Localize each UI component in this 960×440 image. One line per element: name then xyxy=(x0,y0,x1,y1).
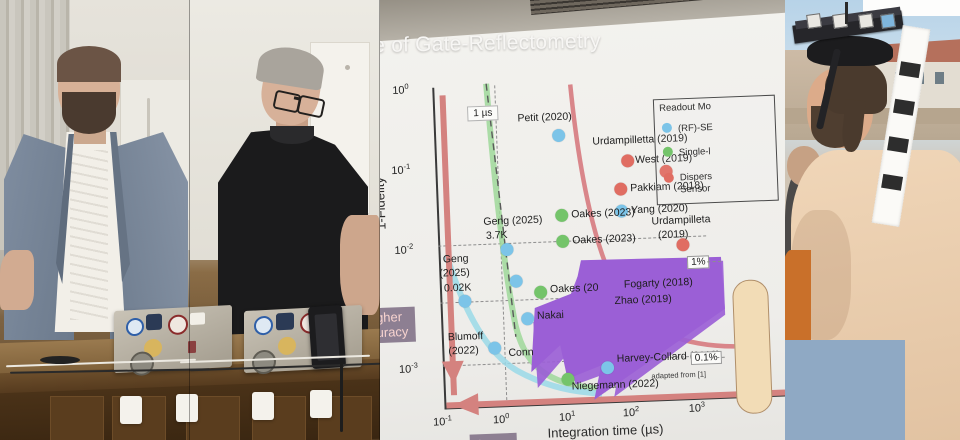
point-label: Urdampilleta xyxy=(651,213,710,227)
cap-antenna xyxy=(845,2,848,24)
cap-decoration xyxy=(858,13,874,29)
point-label: Petit (2020) xyxy=(517,110,572,124)
cap-decoration xyxy=(880,13,896,29)
point-label: Geng xyxy=(443,253,469,266)
hair xyxy=(57,46,121,82)
laptop-sticker xyxy=(126,318,144,337)
panel-divider xyxy=(189,0,190,440)
power-supply xyxy=(252,392,274,420)
power-supply xyxy=(176,394,198,422)
power-supply xyxy=(120,396,142,424)
y-axis-label: 1-Fidelity xyxy=(380,177,389,230)
badge-faster: faster xyxy=(470,433,517,440)
blue-garment xyxy=(785,340,905,440)
legend-label-sensor: Sensor xyxy=(680,183,711,195)
photo-phd-hat xyxy=(785,0,960,440)
badge-higher-accuracy: gheruracy xyxy=(380,307,416,344)
legend-label-dispersive: Dispers xyxy=(680,171,713,183)
shirt-collar xyxy=(270,126,314,144)
point-label: Oakes (2023) xyxy=(572,232,636,246)
graduation-cap-base xyxy=(807,36,893,66)
shirt-folds xyxy=(70,150,108,320)
photo-collage: se of Gate-Reflectometry 100 10-1 10-2 1… xyxy=(0,0,960,440)
hair-side xyxy=(840,99,865,153)
x-axis-label: Integration time (µs) xyxy=(547,421,663,440)
cable-black xyxy=(340,362,343,432)
slide-title: se of Gate-Reflectometry xyxy=(380,29,601,58)
legend-label-rf-set: (RF)-SE xyxy=(678,122,713,134)
laptop-sticker xyxy=(278,336,296,355)
point-label: (2019) xyxy=(658,228,689,241)
desk-panel xyxy=(50,396,104,440)
photo-slide: se of Gate-Reflectometry 100 10-1 10-2 1… xyxy=(380,0,785,440)
ribbon-mark xyxy=(887,136,909,153)
ribbon-mark xyxy=(893,99,915,116)
point-label: 0.02K xyxy=(444,281,472,294)
legend-title: Readout Mo xyxy=(659,101,711,114)
desk-scene xyxy=(0,300,380,440)
point-label: (2022) xyxy=(448,344,479,357)
power-supply xyxy=(310,390,332,418)
legend-label-single-lead: Single-l xyxy=(679,146,711,158)
chart-plot-area: 100 10-1 10-2 10-3 10-1 100 101 102 103 … xyxy=(394,66,757,419)
point-label: Geng (2025) xyxy=(483,214,542,228)
slide-side-pill xyxy=(732,279,773,414)
laptop-sticker xyxy=(190,312,205,325)
ribbon-mark xyxy=(899,61,921,78)
point-label: Nakai xyxy=(537,309,564,322)
point-label: 3.7K xyxy=(486,229,508,242)
smartphone xyxy=(308,305,346,369)
laptop-sticker xyxy=(252,349,276,374)
laptop-sticker xyxy=(254,316,273,336)
window xyxy=(935,72,944,84)
accuracy-arrow-head xyxy=(441,355,466,386)
laptop-sticker xyxy=(168,314,188,335)
point-label: (2025) xyxy=(439,266,470,279)
annotation-1us: 1 µs xyxy=(467,105,499,121)
cable-black xyxy=(40,356,80,364)
cap-decoration xyxy=(806,13,822,29)
laptop-sticker xyxy=(146,314,162,331)
point-label: Conn xyxy=(508,346,534,359)
point-label: Zhao (2019) xyxy=(614,293,672,307)
laptop-sticker xyxy=(276,312,294,330)
point-label: Blumoff xyxy=(448,330,484,343)
slide-content: se of Gate-Reflectometry 100 10-1 10-2 1… xyxy=(380,12,785,440)
faster-arrow-head xyxy=(452,392,483,417)
point-label: Oakes (2023) xyxy=(571,206,635,220)
ribbon-mark xyxy=(881,174,903,191)
beard xyxy=(62,92,116,134)
point-label: Oakes (20 xyxy=(550,282,599,296)
